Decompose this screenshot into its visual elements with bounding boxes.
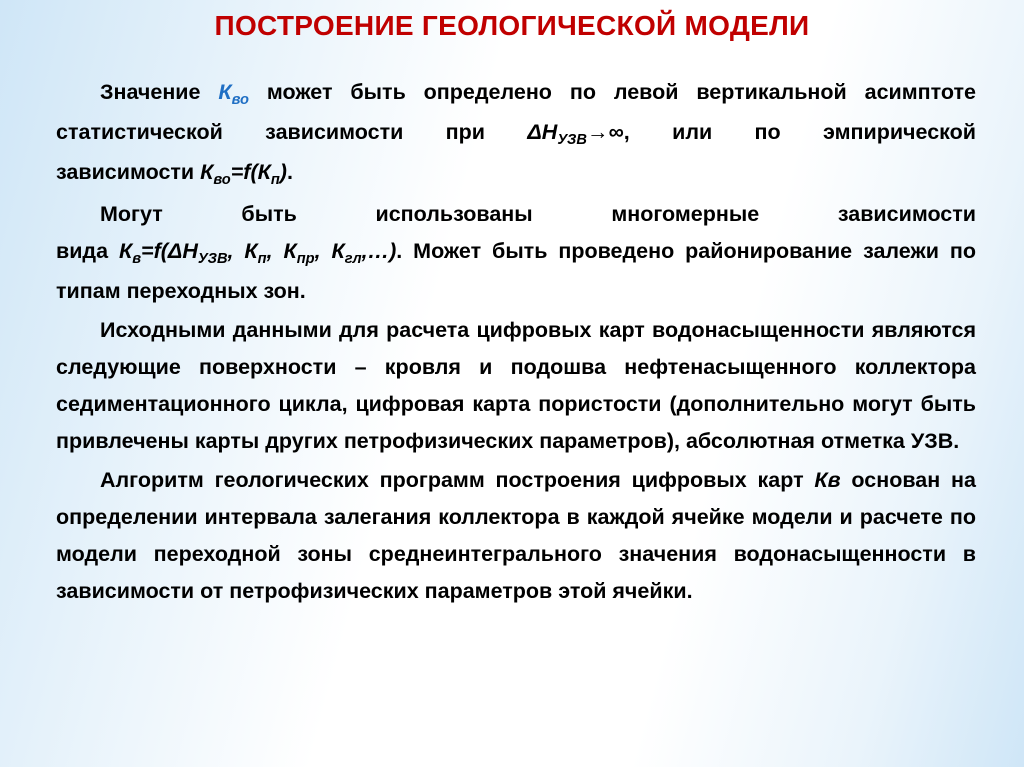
paragraph-2: Могут быть использованы многомерные зави… xyxy=(56,196,976,310)
paragraph-3: Исходными данными для расчета цифровых к… xyxy=(56,312,976,460)
slide-root: ПОСТРОЕНИЕ ГЕОЛОГИЧЕСКОЙ МОДЕЛИ Значение… xyxy=(0,0,1024,767)
formula-kvo-f-kp: Кво=f(Кп) xyxy=(200,160,287,184)
symbol-delta-h-uzv: ΔНУЗВ→∞ xyxy=(527,120,623,144)
slide-body: Значение Кво может быть определено по ле… xyxy=(56,74,976,734)
paragraph-1-text: Значение xyxy=(100,80,218,104)
symbol-kv: Кв xyxy=(814,468,840,492)
paragraph-1-text-d: . xyxy=(287,160,293,184)
formula-kv-multivar: Кв=f(ΔНУЗВ, Кп, Кпр, Кгл,…) xyxy=(119,239,396,263)
paragraph-4-text: Алгоритм геологических программ построен… xyxy=(100,468,814,492)
paragraph-4: Алгоритм геологических программ построен… xyxy=(56,462,976,610)
page-title: ПОСТРОЕНИЕ ГЕОЛОГИЧЕСКОЙ МОДЕЛИ xyxy=(0,10,1024,42)
paragraph-1: Значение Кво может быть определено по ле… xyxy=(56,74,976,194)
symbol-kvo-highlight: Кво xyxy=(218,80,249,104)
